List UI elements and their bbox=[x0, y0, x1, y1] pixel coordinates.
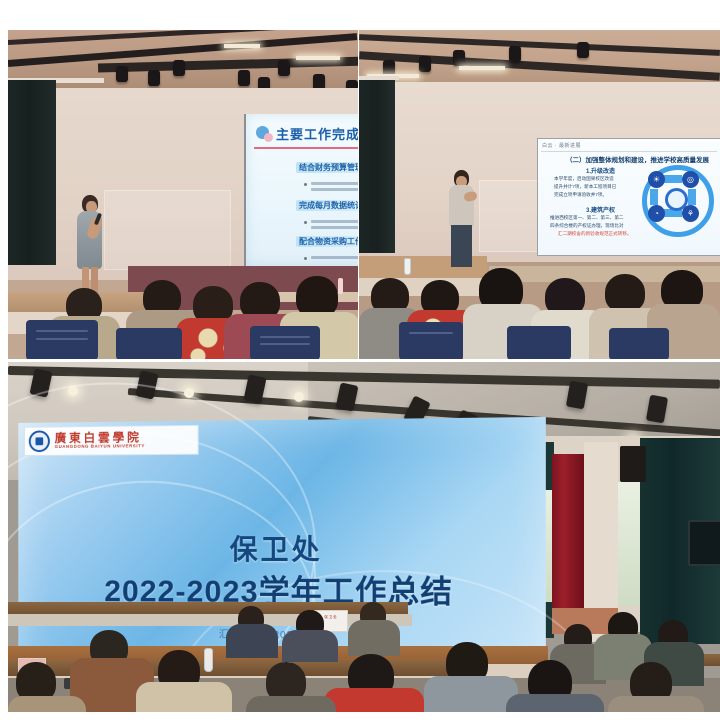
ceiling-lamp-icon bbox=[419, 56, 431, 72]
ceiling-lamp-icon bbox=[148, 70, 160, 86]
window bbox=[618, 482, 640, 606]
curtain-red bbox=[552, 454, 584, 634]
ceiling-spotlight bbox=[294, 392, 304, 402]
slide-section-heading: 3.建筑产权 bbox=[586, 205, 615, 214]
audience-body bbox=[246, 696, 336, 712]
audience-body bbox=[324, 688, 424, 712]
seat-chair bbox=[507, 326, 571, 360]
legs bbox=[451, 225, 472, 267]
ceiling-light-strip bbox=[224, 44, 260, 48]
ceiling-light-strip bbox=[459, 66, 505, 70]
collage-margin-top bbox=[0, 0, 720, 30]
slide-bullet-dot-icon bbox=[264, 133, 273, 142]
ceiling-lamp-icon bbox=[453, 50, 465, 66]
photo-panel-top-left: 主要工作完成情况 结合财务预算管理 认真做好资金统计、核对、入账，及时到账、做好… bbox=[8, 30, 358, 360]
presenter-male bbox=[445, 170, 479, 270]
shield-icon: ◔ bbox=[648, 205, 665, 222]
ceiling-lamp-icon bbox=[173, 60, 185, 76]
slide-section-heading: 1.升级改造 bbox=[586, 166, 615, 175]
ceiling-lamp-icon bbox=[238, 70, 250, 86]
diagram-center-node bbox=[665, 188, 688, 211]
slide-title-rule bbox=[254, 147, 358, 149]
photo-panel-top-right: 白云 · 最新进展 （二）加强整体规划和建设，推进学校高质量发展 1.升级改造 … bbox=[359, 30, 720, 360]
slide-item-label: 完成每月数据统计 bbox=[299, 200, 358, 211]
ceiling-light-strip bbox=[296, 56, 340, 60]
photo-collage: 主要工作完成情况 结合财务预算管理 认真做好资金统计、核对、入账，及时到账、做好… bbox=[0, 0, 720, 720]
bullet-dot-icon bbox=[304, 183, 307, 186]
bulb-icon: ☀ bbox=[648, 171, 665, 188]
ceiling-lamp-icon bbox=[509, 46, 521, 62]
wall-panel bbox=[104, 190, 231, 270]
arm bbox=[463, 191, 478, 203]
slide-item: 结合财务预算管理 bbox=[296, 162, 358, 173]
stage-curtain bbox=[359, 78, 395, 253]
audience-body bbox=[348, 620, 400, 656]
wall-speaker bbox=[620, 446, 646, 482]
slide-item: 完成每月数据统计 bbox=[296, 200, 358, 211]
audience-body bbox=[8, 696, 86, 712]
slide-title: 主要工作完成情况 bbox=[276, 124, 358, 143]
slide-section-line: 汇二期校舍的新验收规范正式转移。 bbox=[558, 231, 632, 238]
projection-screen: 主要工作完成情况 结合财务预算管理 认真做好资金统计、核对、入账，及时到账、做好… bbox=[244, 114, 358, 266]
slide-item: 配合物资采购工作 bbox=[296, 236, 358, 247]
slide-title: （二）加强整体规划和建设，推进学校高质量发展 bbox=[566, 154, 709, 164]
wall-monitor bbox=[688, 520, 720, 566]
audience-body bbox=[226, 624, 278, 658]
water-bottle bbox=[204, 648, 213, 672]
slide-item-label: 配合物资采购工作 bbox=[299, 236, 358, 247]
audience-body bbox=[424, 676, 518, 712]
university-logo: 廣東白雲學院 GUANGDONG BAIYUN UNIVERSITY bbox=[24, 425, 199, 456]
slide-item-label: 结合财务预算管理 bbox=[299, 162, 358, 173]
slide-title-line1: 保卫处 bbox=[18, 527, 546, 568]
water-bottle bbox=[404, 258, 411, 275]
ceiling-lamp-icon bbox=[116, 66, 128, 82]
slide-section-line: 推进西校区第一、第二、第三、第二 bbox=[550, 215, 624, 222]
ceiling-lamp-icon bbox=[577, 42, 589, 58]
bullet-dot-icon bbox=[304, 221, 307, 224]
audience-body bbox=[608, 696, 704, 712]
audience-head bbox=[605, 274, 645, 312]
seat-chair bbox=[609, 328, 669, 360]
bullet-dot-icon bbox=[304, 257, 307, 260]
wall-panel bbox=[479, 180, 545, 252]
seat-chair bbox=[26, 320, 98, 360]
audience-body bbox=[282, 630, 338, 662]
logo-mark-icon bbox=[29, 430, 50, 452]
collage-seam-horizontal bbox=[0, 359, 720, 362]
slide-section-line: 本学年度，启动国果校区改造 bbox=[554, 176, 614, 183]
slide-header: 白云 · 最新进展 bbox=[542, 142, 581, 149]
projection-screen: 白云 · 最新进展 （二）加强整体规划和建设，推进学校高质量发展 1.升级改造 … bbox=[537, 138, 720, 256]
curtain-rail bbox=[359, 76, 399, 80]
collage-seam-vertical bbox=[358, 30, 359, 360]
stage-curtain bbox=[8, 80, 56, 265]
target-icon: ◎ bbox=[682, 171, 699, 188]
audience-body bbox=[136, 682, 232, 712]
seat-chair bbox=[399, 322, 463, 360]
slide-section-line: 提升并计7项，新本工程项目已 bbox=[554, 184, 616, 191]
slide-section-line: 完成立项申请验收并7项。 bbox=[554, 192, 607, 199]
presenter-female bbox=[72, 195, 108, 299]
collage-margin-bottom bbox=[0, 712, 720, 720]
ceiling-lamp-icon bbox=[278, 60, 290, 76]
seat-chair bbox=[116, 328, 182, 360]
audience-body bbox=[506, 694, 604, 712]
slide-section-line: 四条综合楼的产权证办理，现场比对 bbox=[550, 223, 624, 230]
logo-name-en: GUANGDONG BAIYUN UNIVERSITY bbox=[55, 444, 145, 449]
photo-panel-bottom: 廣東白雲學院 GUANGDONG BAIYUN UNIVERSITY 保卫处 2… bbox=[8, 362, 720, 712]
water-bottle bbox=[338, 278, 343, 294]
